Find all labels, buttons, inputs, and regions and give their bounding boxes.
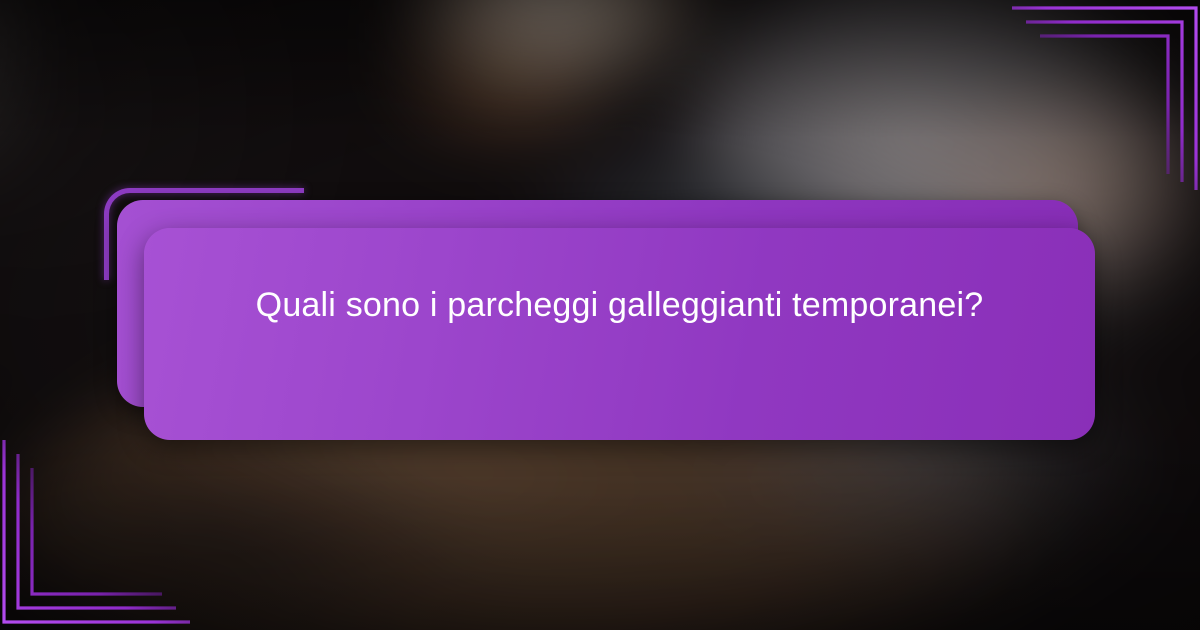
corner-bracket-bottom-left [0, 430, 200, 630]
question-headline: Quali sono i parcheggi galleggianti temp… [230, 276, 1010, 334]
corner-bracket-top-right [1000, 0, 1200, 200]
share-card-canvas: Quali sono i parcheggi galleggianti temp… [0, 0, 1200, 630]
question-card: Quali sono i parcheggi galleggianti temp… [144, 228, 1095, 440]
